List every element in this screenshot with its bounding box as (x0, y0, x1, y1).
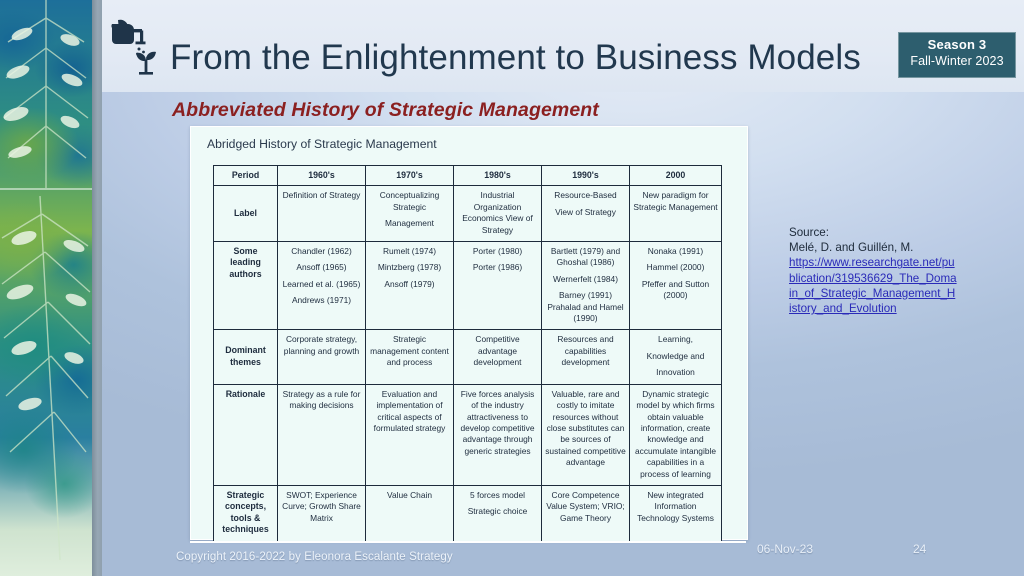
table-header-cell-1: 1960's (278, 166, 366, 186)
table-row: RationaleStrategy as a rule for making d… (214, 384, 722, 485)
table-cell-r4-c0: SWOT; Experience Curve; Growth Share Mat… (278, 485, 366, 541)
table-header-cell-3: 1980's (454, 166, 542, 186)
table-cell-r2-c3: Resources and capabilities development (542, 330, 630, 384)
source-authors: Melé, D. and Guillén, M. (789, 240, 957, 255)
footer-date: 06-Nov-23 (757, 542, 813, 556)
table-cell-r4-c2: 5 forces modelStrategic choice (454, 485, 542, 541)
table-cell-r2-c1: Strategic management content and process (366, 330, 454, 384)
table-cell-r2-c4: Learning,Knowledge andInnovation (630, 330, 722, 384)
table-cell-r4-c4: New integrated Information Technology Sy… (630, 485, 722, 541)
table-row: Strategic concepts, tools & techniquesSW… (214, 485, 722, 541)
leaf-vein-overlay (0, 0, 92, 576)
table-header-cell-5: 2000 (630, 166, 722, 186)
table-row: LabelDefinition of StrategyConceptualizi… (214, 186, 722, 242)
copyright-text: Copyright 2016-2022 by Eleonora Escalant… (176, 551, 453, 563)
season-badge-line1: Season 3 (898, 37, 1016, 52)
table-cell-r1-c0: Chandler (1962)Ansoff (1965)Learned et a… (278, 242, 366, 330)
strip-edge-divider (92, 0, 102, 576)
table-row: Dominant themesCorporate strategy, plann… (214, 330, 722, 384)
table-header-row: Period1960's1970's1980's1990's2000 (214, 166, 722, 186)
table-header-cell-4: 1990's (542, 166, 630, 186)
table-row: Some leading authorsChandler (1962)Ansof… (214, 242, 722, 330)
table-cell-r0-c4: New paradigm for Strategic Management (630, 186, 722, 242)
table-cell-r3-c2: Five forces analysis of the industry att… (454, 384, 542, 485)
footer-page-number: 24 (913, 542, 926, 556)
source-url-link[interactable]: https://www.researchgate.net/publication… (789, 255, 957, 316)
monstera-leaf-decoration (0, 0, 92, 576)
table-cell-r3-c1: Evaluation and implementation of critica… (366, 384, 454, 485)
table-cell-r0-c2: Industrial Organization Economics View o… (454, 186, 542, 242)
table-cell-r3-c3: Valuable, rare and costly to imitate res… (542, 384, 630, 485)
row-label: Dominant themes (214, 330, 278, 384)
source-block: Source: Melé, D. and Guillén, M. https:/… (789, 225, 957, 316)
slide-subtitle: Abbreviated History of Strategic Managem… (172, 99, 599, 122)
table-cell-r4-c1: Value Chain (366, 485, 454, 541)
source-label: Source: (789, 225, 957, 240)
footer-rule (190, 541, 746, 543)
table-header-cell-0: Period (214, 166, 278, 186)
row-label: Rationale (214, 384, 278, 485)
table-cell-r3-c4: Dynamic strategic model by which firms o… (630, 384, 722, 485)
table-cell-r0-c3: Resource-BasedView of Strategy (542, 186, 630, 242)
season-badge-line2: Fall-Winter 2023 (898, 54, 1016, 68)
season-badge: Season 3 Fall-Winter 2023 (898, 32, 1016, 78)
row-label: Strategic concepts, tools & techniques (214, 485, 278, 541)
table-cell-r0-c1: Conceptualizing StrategicManagement (366, 186, 454, 242)
table-header-cell-2: 1970's (366, 166, 454, 186)
page-title: From the Enlightenment to Business Model… (170, 38, 861, 78)
table-cell-r4-c3: Core Competence Value System; VRIO; Game… (542, 485, 630, 541)
history-table: Period1960's1970's1980's1990's2000LabelD… (213, 165, 722, 542)
slide-canvas: From the Enlightenment to Business Model… (0, 0, 1024, 576)
table-cell-r1-c1: Rumelt (1974)Mintzberg (1978)Ansoff (197… (366, 242, 454, 330)
row-label: Label (214, 186, 278, 242)
table-cell-r1-c2: Porter (1980)Porter (1986) (454, 242, 542, 330)
table-cell-r3-c0: Strategy as a rule for making decisions (278, 384, 366, 485)
watering-can-icon (106, 16, 168, 78)
history-table-panel: Abridged History of Strategic Management… (190, 126, 748, 540)
table-cell-r2-c0: Corporate strategy, planning and growth (278, 330, 366, 384)
row-label: Some leading authors (214, 242, 278, 330)
table-cell-r2-c2: Competitive advantage development (454, 330, 542, 384)
panel-caption: Abridged History of Strategic Management (207, 137, 437, 151)
table-cell-r1-c3: Bartlett (1979) and Ghoshal (1986)Werner… (542, 242, 630, 330)
leaf-panel-seam (0, 188, 92, 190)
table-cell-r1-c4: Nonaka (1991)Hammel (2000)Pfeffer and Su… (630, 242, 722, 330)
table-cell-r0-c0: Definition of Strategy (278, 186, 366, 242)
